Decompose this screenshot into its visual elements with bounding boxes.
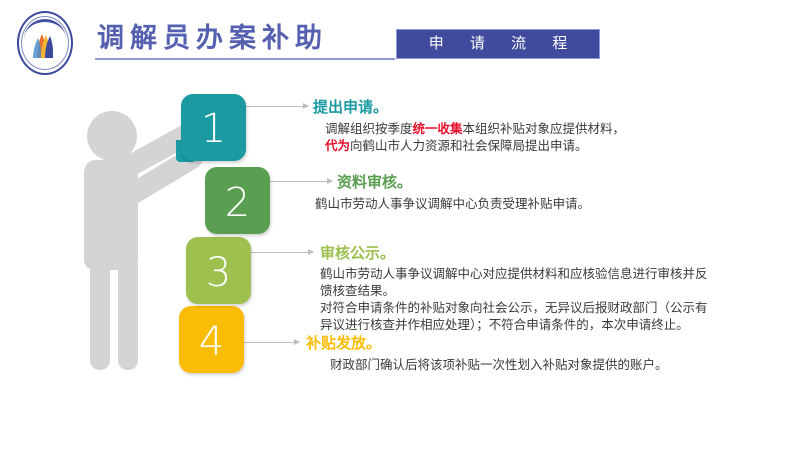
- step-2-heading: 资料审核。: [337, 172, 590, 192]
- slide-header: 调解员办案补助 申 请 流 程: [0, 0, 800, 86]
- arrow-head-icon: [294, 339, 300, 345]
- arrow-head-icon: [303, 103, 309, 109]
- connector-arrow-3: [251, 252, 313, 253]
- step-1-body: 调解组织按季度统一收集本组织补贴对象应提供材料，代为向鹤山市人力资源和社会保障局…: [325, 120, 625, 154]
- connector-arrow-4: [244, 342, 299, 343]
- step-1-text-block: 提出申请。 调解组织按季度统一收集本组织补贴对象应提供材料，代为向鹤山市人力资源…: [313, 97, 625, 154]
- logo-mountain-flame-icon: [31, 30, 59, 60]
- arrow-head-icon: [327, 178, 333, 184]
- slide-canvas: 调解员办案补助 申 请 流 程 1 2 3 4 提出申请。 调解组织按季度统一收…: [0, 0, 800, 450]
- connector-arrow-2: [270, 181, 332, 182]
- step-4-body: 财政部门确认后将该项补贴一次性划入补贴对象提供的账户。: [330, 356, 668, 373]
- step-4-text-block: 补贴发放。 财政部门确认后将该项补贴一次性划入补贴对象提供的账户。: [306, 333, 668, 373]
- subtitle-badge: 申 请 流 程: [396, 29, 600, 59]
- step-3-body: 鹤山市劳动人事争议调解中心对应提供材料和应核验信息进行审核并反馈核查结果。对符合…: [320, 265, 708, 333]
- step-2-body: 鹤山市劳动人事争议调解中心负责受理补贴申请。: [315, 195, 590, 212]
- step-4-number-box[interactable]: 4: [179, 306, 244, 373]
- step-2-text-block: 资料审核。 鹤山市劳动人事争议调解中心负责受理补贴申请。: [337, 172, 590, 212]
- title-underline: [95, 58, 395, 60]
- organization-logo-icon: [17, 11, 77, 77]
- step-3-heading: 审核公示。: [320, 243, 708, 263]
- step-3-number-box[interactable]: 3: [186, 237, 251, 304]
- step-4-heading: 补贴发放。: [306, 333, 668, 353]
- step-3-text-block: 审核公示。 鹤山市劳动人事争议调解中心对应提供材料和应核验信息进行审核并反馈核查…: [320, 243, 708, 333]
- arrow-head-icon: [308, 249, 314, 255]
- step-2-number-box[interactable]: 2: [205, 167, 270, 234]
- step-1-heading: 提出申请。: [313, 97, 625, 117]
- step-1-number-box[interactable]: 1: [181, 94, 246, 161]
- page-title: 调解员办案补助: [97, 22, 328, 54]
- connector-arrow-1: [246, 106, 308, 107]
